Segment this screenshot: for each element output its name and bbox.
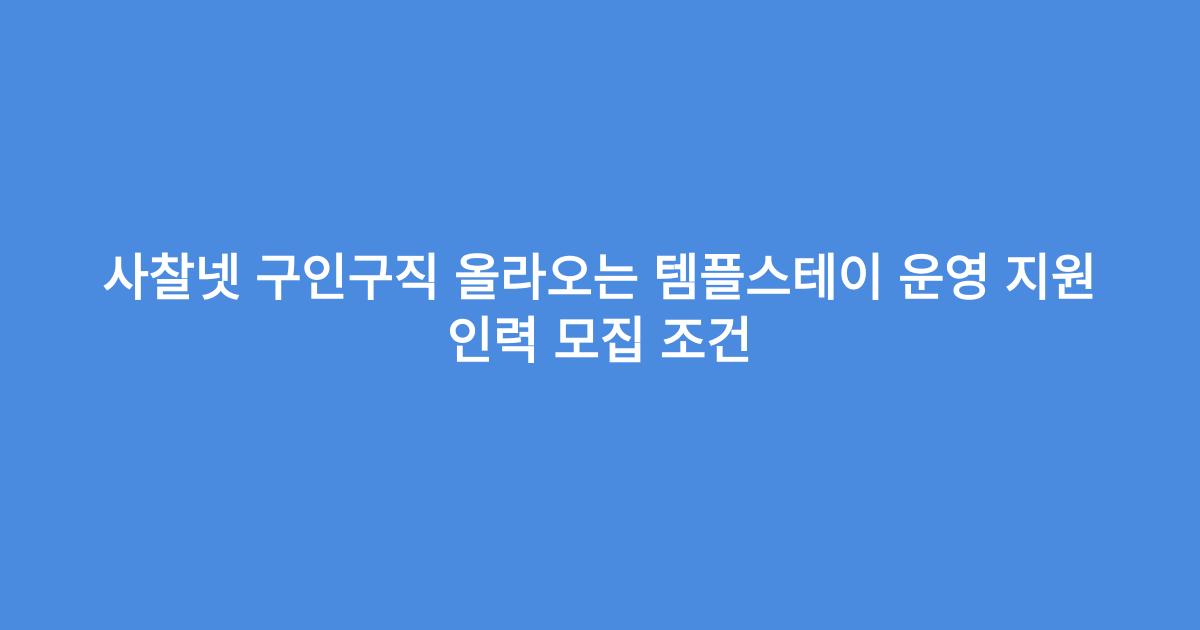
og-share-card: 사찰넷 구인구직 올라오는 템플스테이 운영 지원인력 모집 조건	[0, 0, 1200, 630]
page-title: 사찰넷 구인구직 올라오는 템플스테이 운영 지원인력 모집 조건	[84, 247, 1116, 373]
headline-block: 사찰넷 구인구직 올라오는 템플스테이 운영 지원인력 모집 조건	[60, 247, 1140, 373]
page-title-line-1: 사찰넷 구인구직 올라오는 템플스테이 운영 지원	[103, 250, 1097, 306]
page-title-line-2: 인력 모집 조건	[447, 313, 752, 369]
